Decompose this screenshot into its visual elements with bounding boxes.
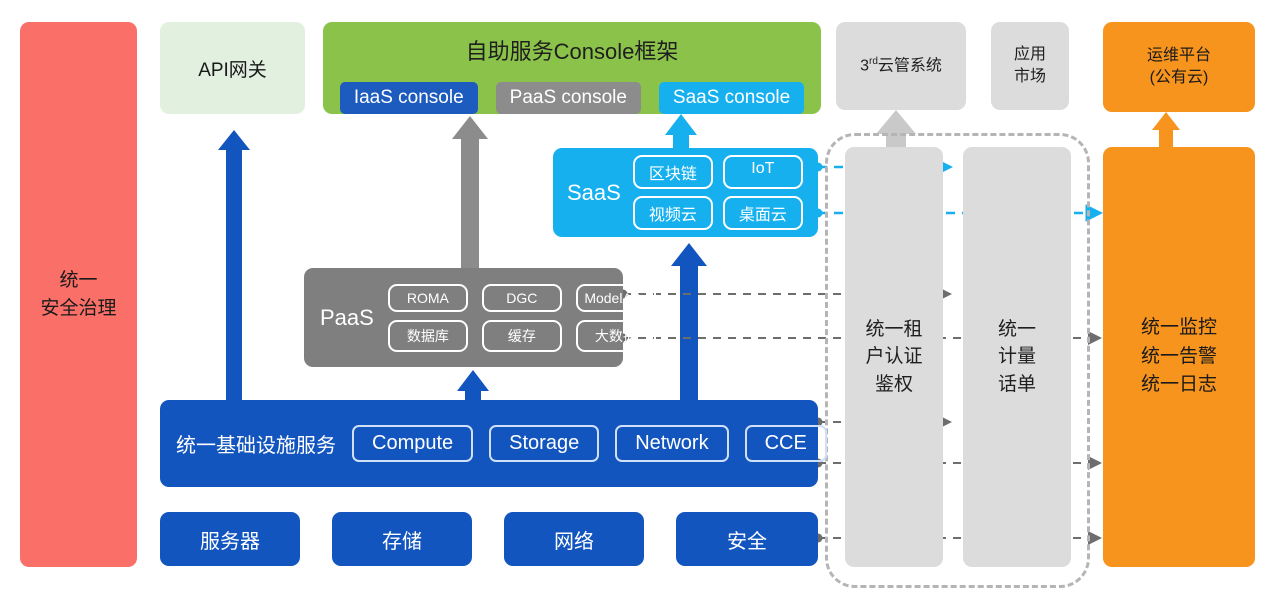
paas-item-dgc[interactable]: DGC: [482, 284, 562, 312]
paas-item-modelarts[interactable]: ModelArts: [576, 284, 656, 312]
ops-bottom-line-1: 统一监控: [1141, 314, 1217, 343]
metering-line-1: 统一: [998, 316, 1036, 344]
infra-box-server[interactable]: 服务器: [160, 512, 300, 566]
infra-label-server: 服务器: [200, 525, 260, 554]
arrow-paas-to-console: [452, 116, 488, 268]
infra-box-security[interactable]: 安全: [676, 512, 818, 566]
arrow-saas-to-console: [665, 114, 697, 150]
architecture-diagram: 统一 安全治理 API网关 自助服务Console框架 IaaS console…: [0, 0, 1265, 605]
paas-item-grid: ROMA DGC ModelArts 数据库 缓存 大数据: [388, 284, 656, 352]
third-party-cloud-management-box[interactable]: 3rd云管系统: [836, 22, 966, 110]
iaas-console-pill[interactable]: IaaS console: [340, 82, 478, 114]
arrow-iaas-to-api-gateway: [218, 130, 250, 400]
third-party-label: 3rd云管系统: [860, 55, 942, 77]
infra-label-network: 网络: [554, 525, 594, 554]
auth-line-2: 户认证: [865, 343, 922, 371]
saas-item-desktop-cloud[interactable]: 桌面云: [723, 196, 803, 230]
console-framework-title: 自助服务Console框架: [466, 34, 679, 66]
paas-item-bigdata[interactable]: 大数据: [576, 320, 656, 352]
infra-box-network[interactable]: 网络: [504, 512, 644, 566]
paas-item-roma[interactable]: ROMA: [388, 284, 468, 312]
saas-console-pill[interactable]: SaaS console: [659, 82, 804, 114]
saas-item-video-cloud[interactable]: 视频云: [633, 196, 713, 230]
app-market-line-2: 市场: [1014, 66, 1046, 88]
ops-unified-monitoring-panel: 统一监控 统一告警 统一日志: [1103, 147, 1255, 567]
saas-item-grid: 区块链 IoT 视频云 桌面云: [633, 155, 803, 230]
iaas-item-storage[interactable]: Storage: [489, 425, 599, 462]
paas-console-pill[interactable]: PaaS console: [496, 82, 641, 114]
auth-line-3: 鉴权: [875, 371, 913, 399]
arrow-iaas-to-paas: [457, 370, 489, 402]
iaas-label: 统一基础设施服务: [176, 429, 336, 458]
ops-top-line-2: (公有云): [1150, 67, 1209, 89]
third-party-prefix: 3: [860, 57, 869, 74]
paas-label: PaaS: [320, 305, 374, 331]
paas-item-cache[interactable]: 缓存: [482, 320, 562, 352]
iaas-item-network[interactable]: Network: [615, 425, 728, 462]
metering-line-2: 计量: [998, 343, 1036, 371]
saas-item-blockchain[interactable]: 区块链: [633, 155, 713, 189]
saas-label: SaaS: [567, 180, 621, 206]
self-service-console-framework: 自助服务Console框架 IaaS console PaaS console …: [323, 22, 821, 114]
unified-security-governance-panel: 统一 安全治理: [20, 22, 137, 567]
saas-item-iot[interactable]: IoT: [723, 155, 803, 189]
third-party-superscript: rd: [869, 56, 878, 67]
iaas-item-cce[interactable]: CCE: [745, 425, 827, 462]
infra-label-storage: 存储: [382, 525, 422, 554]
arrow-ops-bottom-to-ops-top: [1152, 112, 1180, 147]
paas-block: PaaS ROMA DGC ModelArts 数据库 缓存 大数据: [304, 268, 623, 367]
ops-platform-public-cloud-box[interactable]: 运维平台 (公有云): [1103, 22, 1255, 112]
ops-bottom-line-2: 统一告警: [1141, 343, 1217, 372]
metering-line-3: 话单: [998, 371, 1036, 399]
app-market-line-1: 应用: [1014, 44, 1046, 66]
api-gateway-box[interactable]: API网关: [160, 22, 305, 114]
console-pill-row: IaaS console PaaS console SaaS console: [323, 82, 821, 114]
arrow-iaas-to-saas: [671, 243, 707, 400]
iaas-item-compute[interactable]: Compute: [352, 425, 473, 462]
app-market-box[interactable]: 应用 市场: [991, 22, 1069, 110]
api-gateway-label: API网关: [198, 55, 267, 82]
paas-item-database[interactable]: 数据库: [388, 320, 468, 352]
saas-block: SaaS 区块链 IoT 视频云 桌面云: [553, 148, 818, 237]
auth-line-1: 统一租: [865, 316, 922, 344]
infra-label-security: 安全: [727, 525, 767, 554]
infra-box-storage[interactable]: 存储: [332, 512, 472, 566]
ops-top-line-1: 运维平台: [1147, 45, 1211, 67]
governance-line-1: 统一: [59, 267, 97, 295]
unified-metering-billing-column: 统一 计量 话单: [963, 147, 1071, 567]
ops-bottom-line-3: 统一日志: [1141, 371, 1217, 400]
unified-tenant-auth-column: 统一租 户认证 鉴权: [845, 147, 943, 567]
third-party-suffix: 云管系统: [878, 57, 942, 74]
governance-line-2: 安全治理: [40, 295, 116, 323]
unified-infrastructure-service-bar: 统一基础设施服务 Compute Storage Network CCE: [160, 400, 818, 487]
